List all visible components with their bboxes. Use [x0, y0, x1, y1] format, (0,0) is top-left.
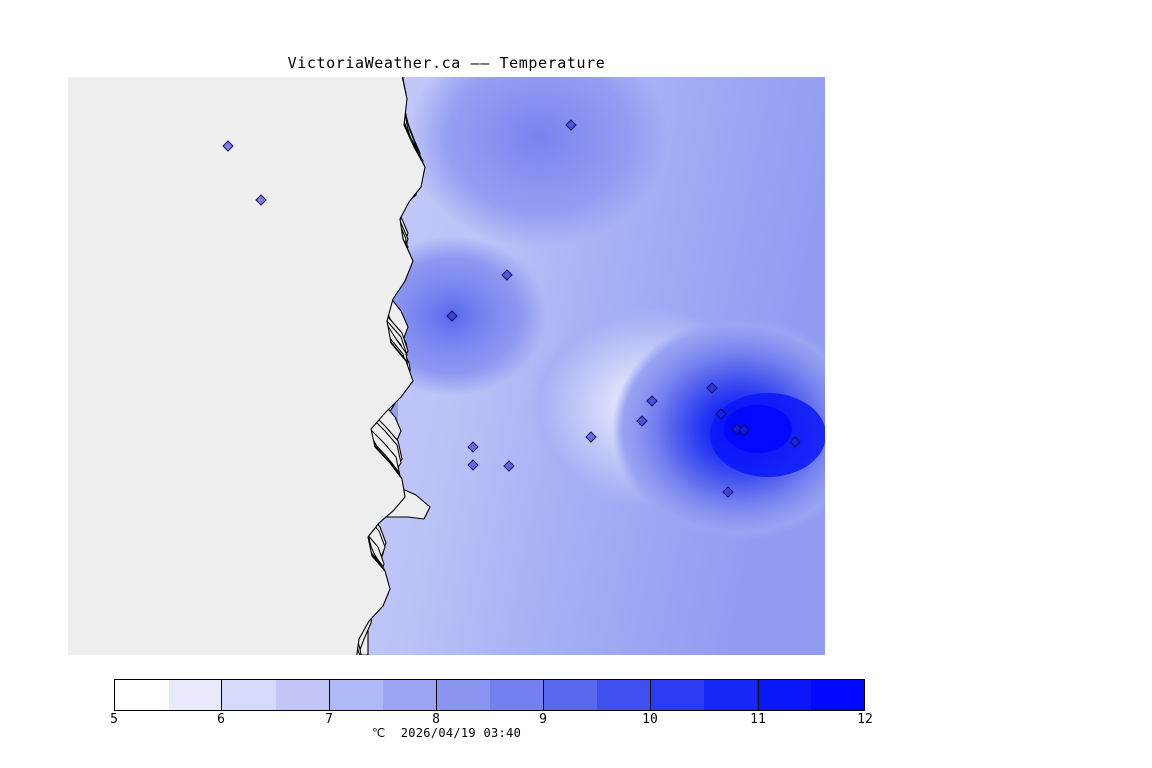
- landmass-west[interactable]: [68, 77, 425, 655]
- colorbar[interactable]: 56789101112: [114, 679, 865, 711]
- colorbar-label-5: 5: [110, 712, 118, 727]
- station-marker[interactable]: [790, 437, 800, 447]
- station-marker[interactable]: [647, 396, 657, 406]
- landmass-east-hidden: [498, 77, 825, 501]
- station-marker[interactable]: [707, 383, 717, 393]
- colorbar-tick-6: [221, 679, 222, 711]
- colorbar-label-9: 9: [539, 712, 547, 727]
- colorbar-label-7: 7: [325, 712, 333, 727]
- colorbar-unit-timestamp: ℃ 2026/04/19 03:40: [0, 726, 893, 740]
- station-marker[interactable]: [566, 120, 576, 130]
- colorbar-tick-9: [543, 679, 544, 711]
- coastlines-visible: [68, 77, 825, 655]
- colorbar-label-12: 12: [857, 712, 873, 727]
- station-marker[interactable]: [502, 270, 512, 280]
- colorbar-tick-10: [650, 679, 651, 711]
- colorbar-label-11: 11: [750, 712, 766, 727]
- station-marker[interactable]: [468, 442, 478, 452]
- station-marker[interactable]: [723, 487, 733, 497]
- colorbar-label-6: 6: [217, 712, 225, 727]
- temperature-map[interactable]: [68, 77, 825, 655]
- station-marker[interactable]: [586, 432, 596, 442]
- station-marker[interactable]: [716, 409, 726, 419]
- page-title: VictoriaWeather.ca —— Temperature: [0, 54, 893, 72]
- colorbar-tick-7: [329, 679, 330, 711]
- station-marker[interactable]: [447, 311, 457, 321]
- station-marker[interactable]: [468, 460, 478, 470]
- colorbar-tick-11: [758, 679, 759, 711]
- station-marker[interactable]: [637, 416, 647, 426]
- colorbar-tick-8: [436, 679, 437, 711]
- weather-map-page: VictoriaWeather.ca —— Temperature: [0, 0, 1152, 768]
- colorbar-ticks: [114, 679, 865, 711]
- colorbar-label-10: 10: [642, 712, 658, 727]
- station-marker[interactable]: [504, 461, 514, 471]
- station-marker[interactable]: [739, 425, 749, 435]
- colorbar-label-8: 8: [432, 712, 440, 727]
